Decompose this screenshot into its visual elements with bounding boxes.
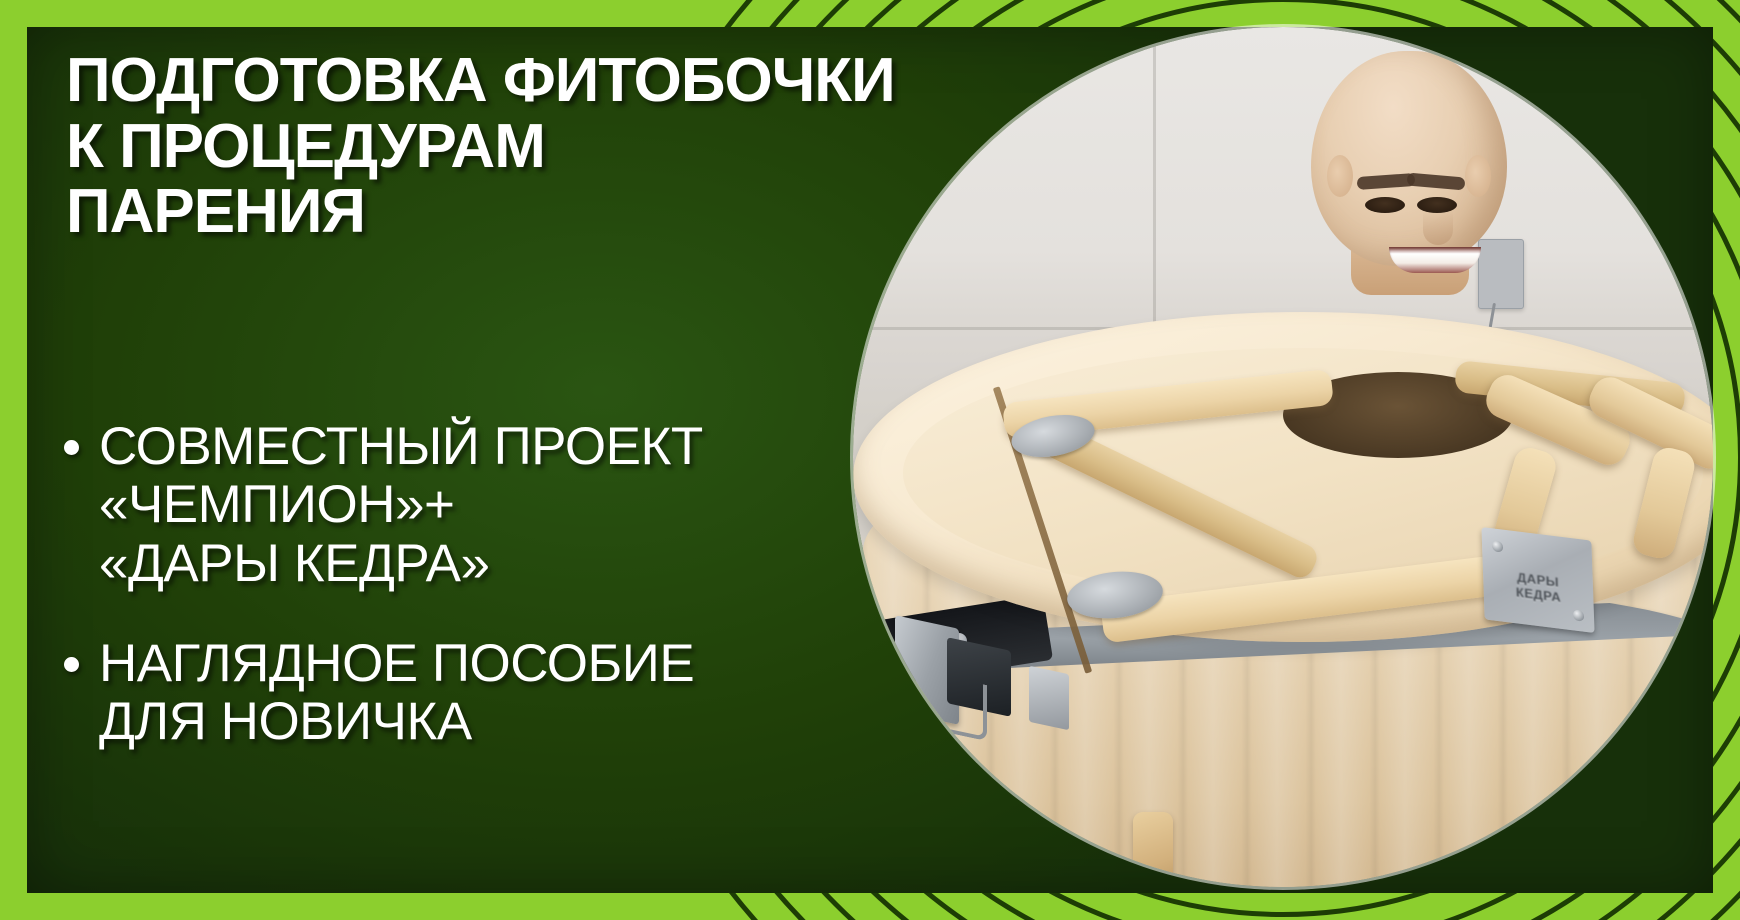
list-item: СОВМЕСТНЫЙ ПРОЕКТ «ЧЕМПИОН»+ «ДАРЫ КЕДРА…: [60, 418, 940, 593]
video-thumbnail: ДАРЫ КЕДРА ПОДГОТОВКА ФИТОБОЧКИ К ПРОЦЕД…: [0, 0, 1740, 920]
page-title: ПОДГОТОВКА ФИТОБОЧКИ К ПРОЦЕДУРАМ ПАРЕНИ…: [66, 48, 940, 245]
circular-photo: ДАРЫ КЕДРА: [853, 27, 1713, 887]
barrel-latch-catch: [1029, 666, 1069, 731]
nameplate-screw-tl: [1492, 540, 1503, 552]
eye-left: [1365, 197, 1405, 213]
bullet-text: СОВМЕСТНЫЙ ПРОЕКТ «ЧЕМПИОН»+ «ДАРЫ КЕДРА…: [99, 418, 703, 593]
ear-left: [1327, 155, 1353, 197]
mouth-smile: [1389, 247, 1481, 273]
bullet-list: СОВМЕСТНЫЙ ПРОЕКТ «ЧЕМПИОН»+ «ДАРЫ КЕДРА…: [60, 418, 940, 793]
barrel-nameplate: ДАРЫ КЕДРА: [1481, 527, 1594, 633]
nameplate-text: ДАРЫ КЕДРА: [1493, 566, 1584, 607]
list-item: НАГЛЯДНОЕ ПОСОБИЕ ДЛЯ НОВИЧКА: [60, 635, 940, 752]
cedar-barrel: ДАРЫ КЕДРА: [853, 252, 1713, 887]
nameplate-screw-br: [1573, 609, 1584, 621]
barrel-peg-1: [1133, 812, 1173, 887]
bullet-dot-icon: [64, 657, 79, 672]
person-head: [1285, 31, 1535, 281]
photo-background-wall: ДАРЫ КЕДРА: [853, 27, 1713, 887]
nose: [1423, 211, 1453, 245]
bullet-text: НАГЛЯДНОЕ ПОСОБИЕ ДЛЯ НОВИЧКА: [99, 635, 694, 752]
bullet-dot-icon: [64, 440, 79, 455]
eyebrow-right: [1407, 172, 1466, 190]
ear-right: [1465, 155, 1491, 197]
text-content: ПОДГОТОВКА ФИТОБОЧКИ К ПРОЦЕДУРАМ ПАРЕНИ…: [60, 48, 940, 848]
face: [1311, 51, 1507, 266]
